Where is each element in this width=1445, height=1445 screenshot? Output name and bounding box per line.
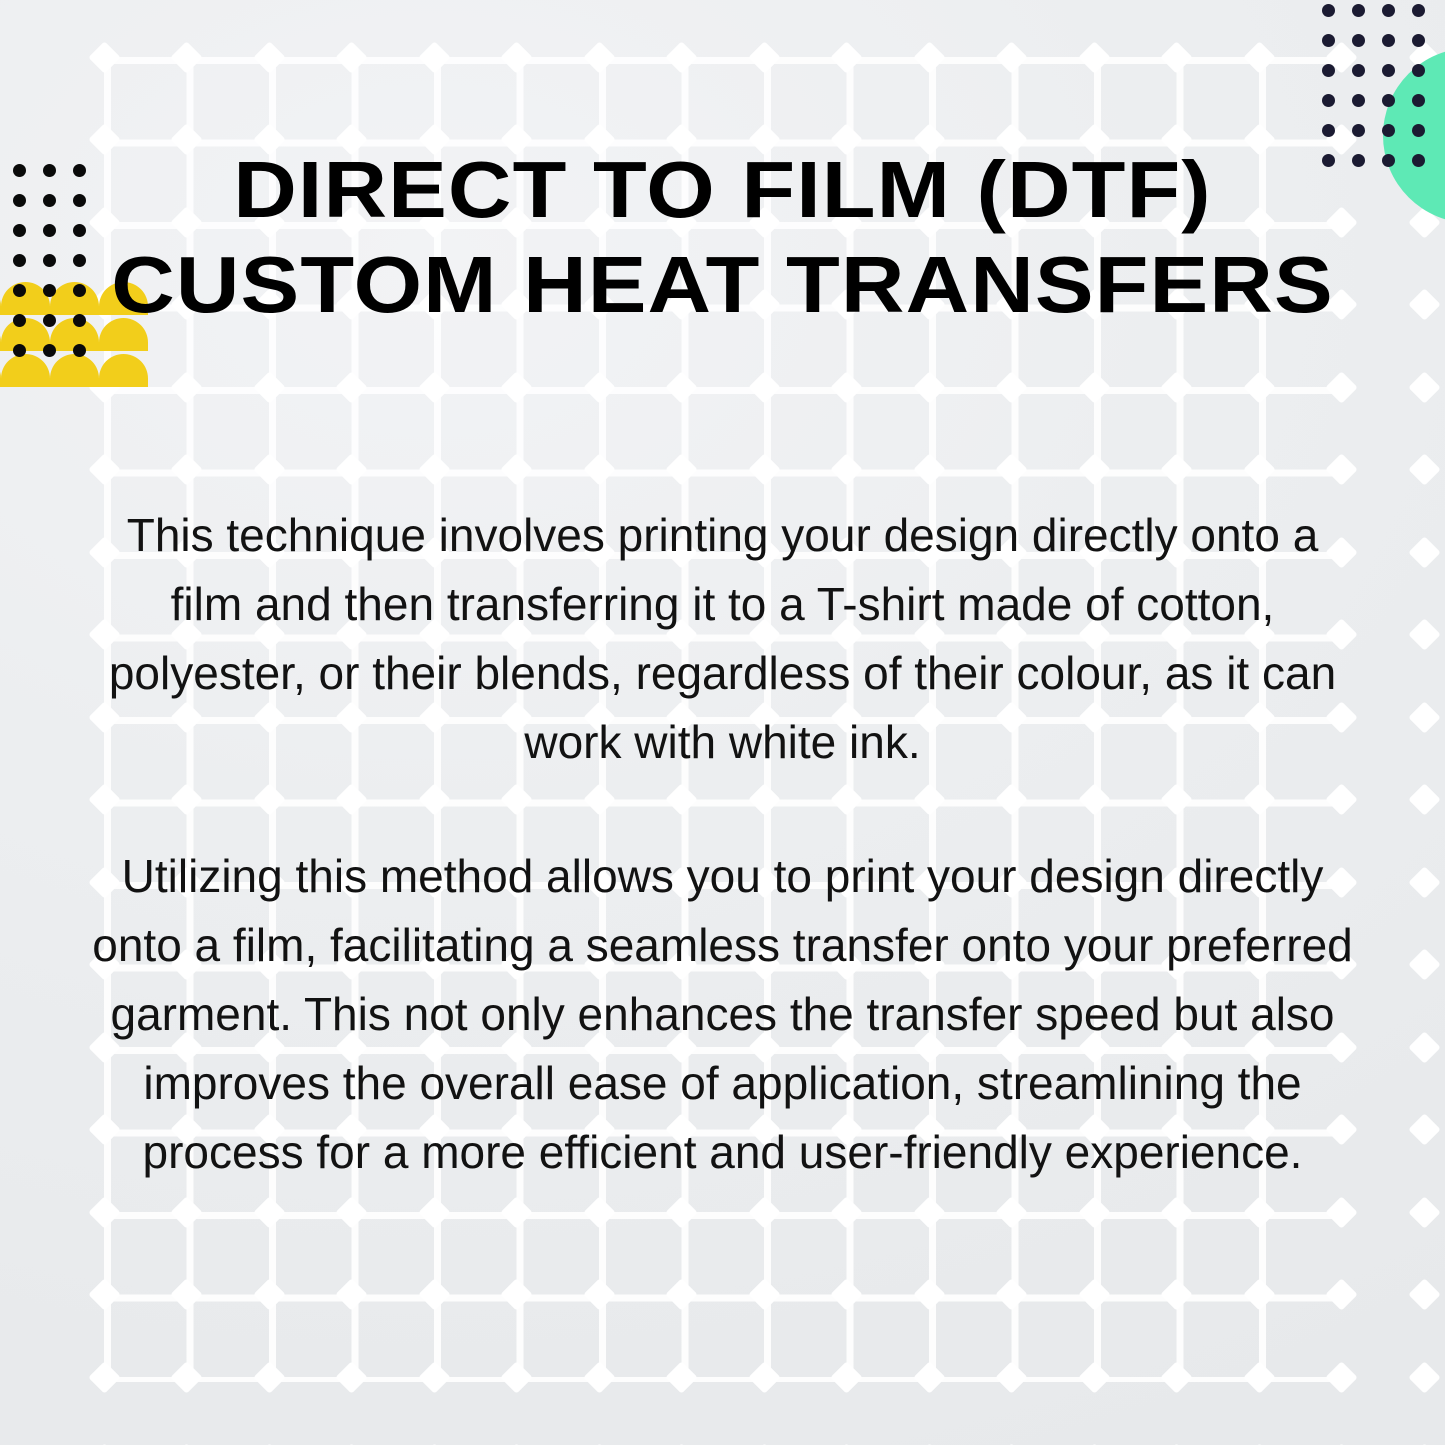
page-title: DIRECT TO FILM (DTF) CUSTOM HEAT TRANSFE… xyxy=(27,142,1419,332)
poster-content: DIRECT TO FILM (DTF) CUSTOM HEAT TRANSFE… xyxy=(0,0,1445,1445)
poster-canvas: DIRECT TO FILM (DTF) CUSTOM HEAT TRANSFE… xyxy=(0,0,1445,1445)
body-paragraph-1: This technique involves printing your de… xyxy=(90,501,1355,777)
body-paragraph-2: Utilizing this method allows you to prin… xyxy=(90,842,1355,1187)
